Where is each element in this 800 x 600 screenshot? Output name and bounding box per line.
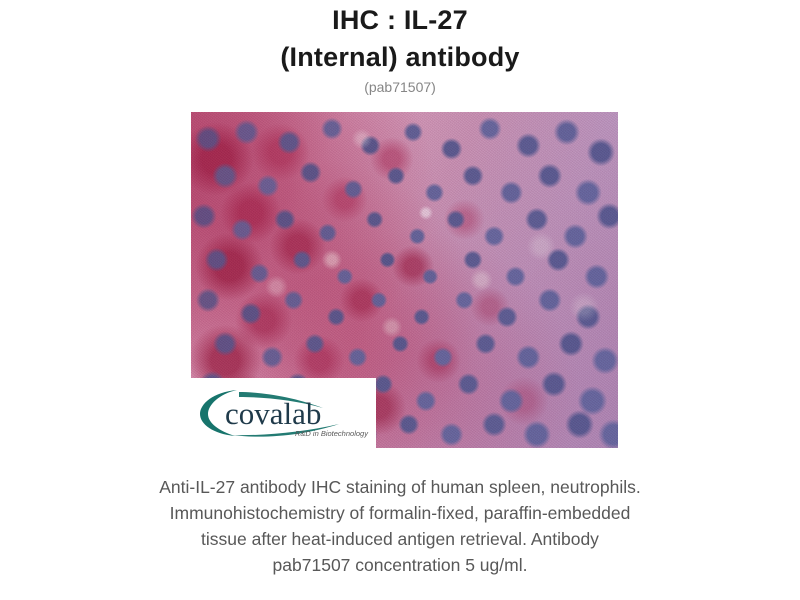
caption-line-4: pab71507 concentration 5 ug/ml. <box>60 552 740 578</box>
covalab-logo-box: covalab R&D in Biotechnology <box>191 378 376 448</box>
figure-title-block: IHC : IL-27 (Internal) antibody (pab7150… <box>0 2 800 97</box>
covalab-tagline: R&D in Biotechnology <box>295 429 369 438</box>
catalog-number-subtitle: (pab71507) <box>0 77 800 97</box>
covalab-logo-svg: covalab R&D in Biotechnology <box>199 386 371 440</box>
caption-line-1: Anti-IL-27 antibody IHC staining of huma… <box>60 474 740 500</box>
ihc-micrograph-image: covalab R&D in Biotechnology <box>191 112 618 448</box>
figure-caption: Anti-IL-27 antibody IHC staining of huma… <box>60 474 740 578</box>
ihc-figure: IHC : IL-27 (Internal) antibody (pab7150… <box>0 0 800 600</box>
caption-line-3: tissue after heat-induced antigen retrie… <box>60 526 740 552</box>
covalab-logo: covalab R&D in Biotechnology <box>199 386 371 440</box>
covalab-wordmark: covalab <box>225 396 321 431</box>
page-title-line-2: (Internal) antibody <box>0 39 800 76</box>
caption-line-2: Immunohistochemistry of formalin-fixed, … <box>60 500 740 526</box>
page-title-line-1: IHC : IL-27 <box>0 2 800 39</box>
